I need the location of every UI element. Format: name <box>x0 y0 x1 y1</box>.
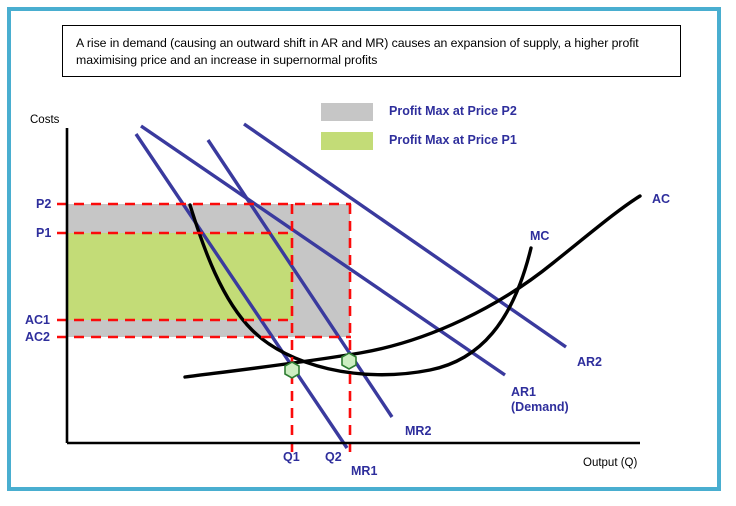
curve-label-ar1-note: (Demand) <box>511 400 569 414</box>
y-tick-ac2: AC2 <box>25 330 50 344</box>
curve-label-mr1: MR1 <box>351 464 377 478</box>
x-axis-title: Output (Q) <box>583 457 637 469</box>
legend-label-p2: Profit Max at Price P2 <box>389 104 517 118</box>
curve-label-ar2: AR2 <box>577 355 602 369</box>
y-axis-title: Costs <box>30 114 59 126</box>
legend-swatch-p2 <box>321 103 373 121</box>
economics-diagram <box>0 0 736 506</box>
legend-label-p1: Profit Max at Price P1 <box>389 133 517 147</box>
curve-label-ac: AC <box>652 192 670 206</box>
y-tick-p2: P2 <box>36 197 51 211</box>
x-tick-q2: Q2 <box>325 450 342 464</box>
curve-label-mc: MC <box>530 229 549 243</box>
y-tick-ac1: AC1 <box>25 313 50 327</box>
equilibrium-marker-q1 <box>285 362 299 378</box>
y-tick-p1: P1 <box>36 226 51 240</box>
curve-label-mr2: MR2 <box>405 424 431 438</box>
diagram-page: A rise in demand (causing an outward shi… <box>0 0 736 506</box>
legend-swatch-p1 <box>321 132 373 150</box>
profit-area-p1 <box>67 233 293 320</box>
x-tick-q1: Q1 <box>283 450 300 464</box>
equilibrium-marker-q2 <box>342 353 356 369</box>
curve-label-ar1: AR1 <box>511 385 536 399</box>
